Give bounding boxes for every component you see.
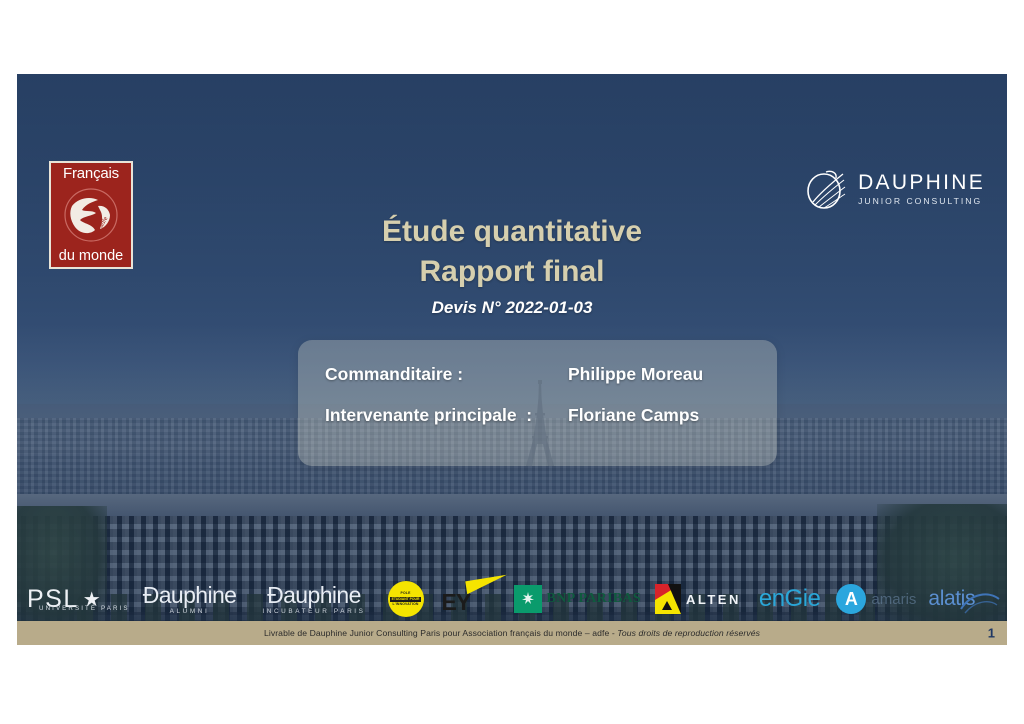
intervenante-label: Intervenante principale : <box>325 405 568 426</box>
intervenante-value: Floriane Camps <box>568 405 699 426</box>
sphere-icon <box>803 166 849 212</box>
building-roof <box>17 494 1007 516</box>
bnp-wordmark: BNP PARIBAS <box>547 591 641 607</box>
pepite-line-1: POLE <box>401 591 411 596</box>
info-box: Commanditaire : Philippe Moreau Interven… <box>298 340 777 466</box>
page-number: 1 <box>988 626 995 641</box>
fdm-top-text: Français <box>63 166 119 181</box>
alten-triangle-icon <box>662 601 672 610</box>
amaris-wordmark: amaris <box>871 591 916 608</box>
slide-page: Français adfe du monde DAUPHINE JUNIOR <box>0 0 1024 724</box>
footer-text-italic: Tous droits de reproduction réservés <box>617 628 760 638</box>
djc-name: DAUPHINE <box>858 172 985 194</box>
footer-text-plain: Livrable de Dauphine Junior Consulting P… <box>264 628 617 638</box>
dauphine-alumni-wordmark: Ɖauphine <box>143 584 237 607</box>
footer-bar: Livrable de Dauphine Junior Consulting P… <box>17 621 1007 645</box>
engie-wordmark: enGie <box>759 585 821 613</box>
page-title-line-1: Étude quantitative <box>17 212 1007 252</box>
alten-wordmark: ALTEN <box>686 592 741 607</box>
logo-amaris: A amaris <box>836 584 916 614</box>
commanditaire-label: Commanditaire : <box>325 364 568 385</box>
amaris-circle-mark: A <box>836 584 866 614</box>
dauphine-incubateur-wordmark: Ɖauphine <box>262 584 365 607</box>
ey-wordmark: EY <box>442 589 471 616</box>
djc-subtitle: JUNIOR CONSULTING <box>858 197 985 206</box>
dauphine-alumni-subtitle: ALUMNI <box>143 608 237 615</box>
title-block: Étude quantitative Rapport final Devis N… <box>17 212 1007 318</box>
pepite-badge: POLE ETUDIANT POUR L'INNOVATION <box>388 581 424 617</box>
logo-dauphine-alumni: Ɖauphine ALUMNI <box>143 584 237 615</box>
logo-dauphine-incubateur: Ɖauphine INCUBATEUR PARIS <box>262 584 365 615</box>
bnp-stars-icon <box>518 589 538 609</box>
pepite-line-2: ETUDIANT POUR <box>390 597 422 602</box>
bnp-green-square <box>514 585 542 613</box>
logo-alatis: alatis <box>928 587 975 611</box>
alten-mark <box>655 584 681 614</box>
page-title-line-2: Rapport final <box>17 252 1007 292</box>
dauphine-incubateur-subtitle: INCUBATEUR PARIS <box>262 608 365 615</box>
logo-bnp-paribas: BNP PARIBAS <box>514 585 641 613</box>
footer-text: Livrable de Dauphine Junior Consulting P… <box>264 628 760 638</box>
commanditaire-value: Philippe Moreau <box>568 364 703 385</box>
logo-alten: ALTEN <box>655 584 741 614</box>
partner-logo-strip: PSL ★ UNIVERSITÉ PARIS Ɖauphine ALUMNI Ɖ… <box>17 579 1007 619</box>
dauphine-junior-consulting-logo: DAUPHINE JUNIOR CONSULTING <box>803 166 985 212</box>
presentation-slide: Français adfe du monde DAUPHINE JUNIOR <box>17 74 1007 645</box>
logo-ey: EY <box>442 582 500 616</box>
psl-subtitle: UNIVERSITÉ PARIS <box>39 605 130 612</box>
ey-mark: EY <box>442 582 500 616</box>
logo-pepite: POLE ETUDIANT POUR L'INNOVATION <box>388 581 424 617</box>
info-row-intervenante: Intervenante principale : Floriane Camps <box>298 405 777 426</box>
djc-wordmark: DAUPHINE JUNIOR CONSULTING <box>858 172 985 205</box>
page-subtitle: Devis N° 2022-01-03 <box>17 298 1007 318</box>
alatis-swoosh-icon <box>959 589 1001 615</box>
info-row-commanditaire: Commanditaire : Philippe Moreau <box>298 364 777 385</box>
pepite-line-3: L'INNOVATION <box>393 602 419 607</box>
logo-engie: enGie <box>759 585 821 613</box>
